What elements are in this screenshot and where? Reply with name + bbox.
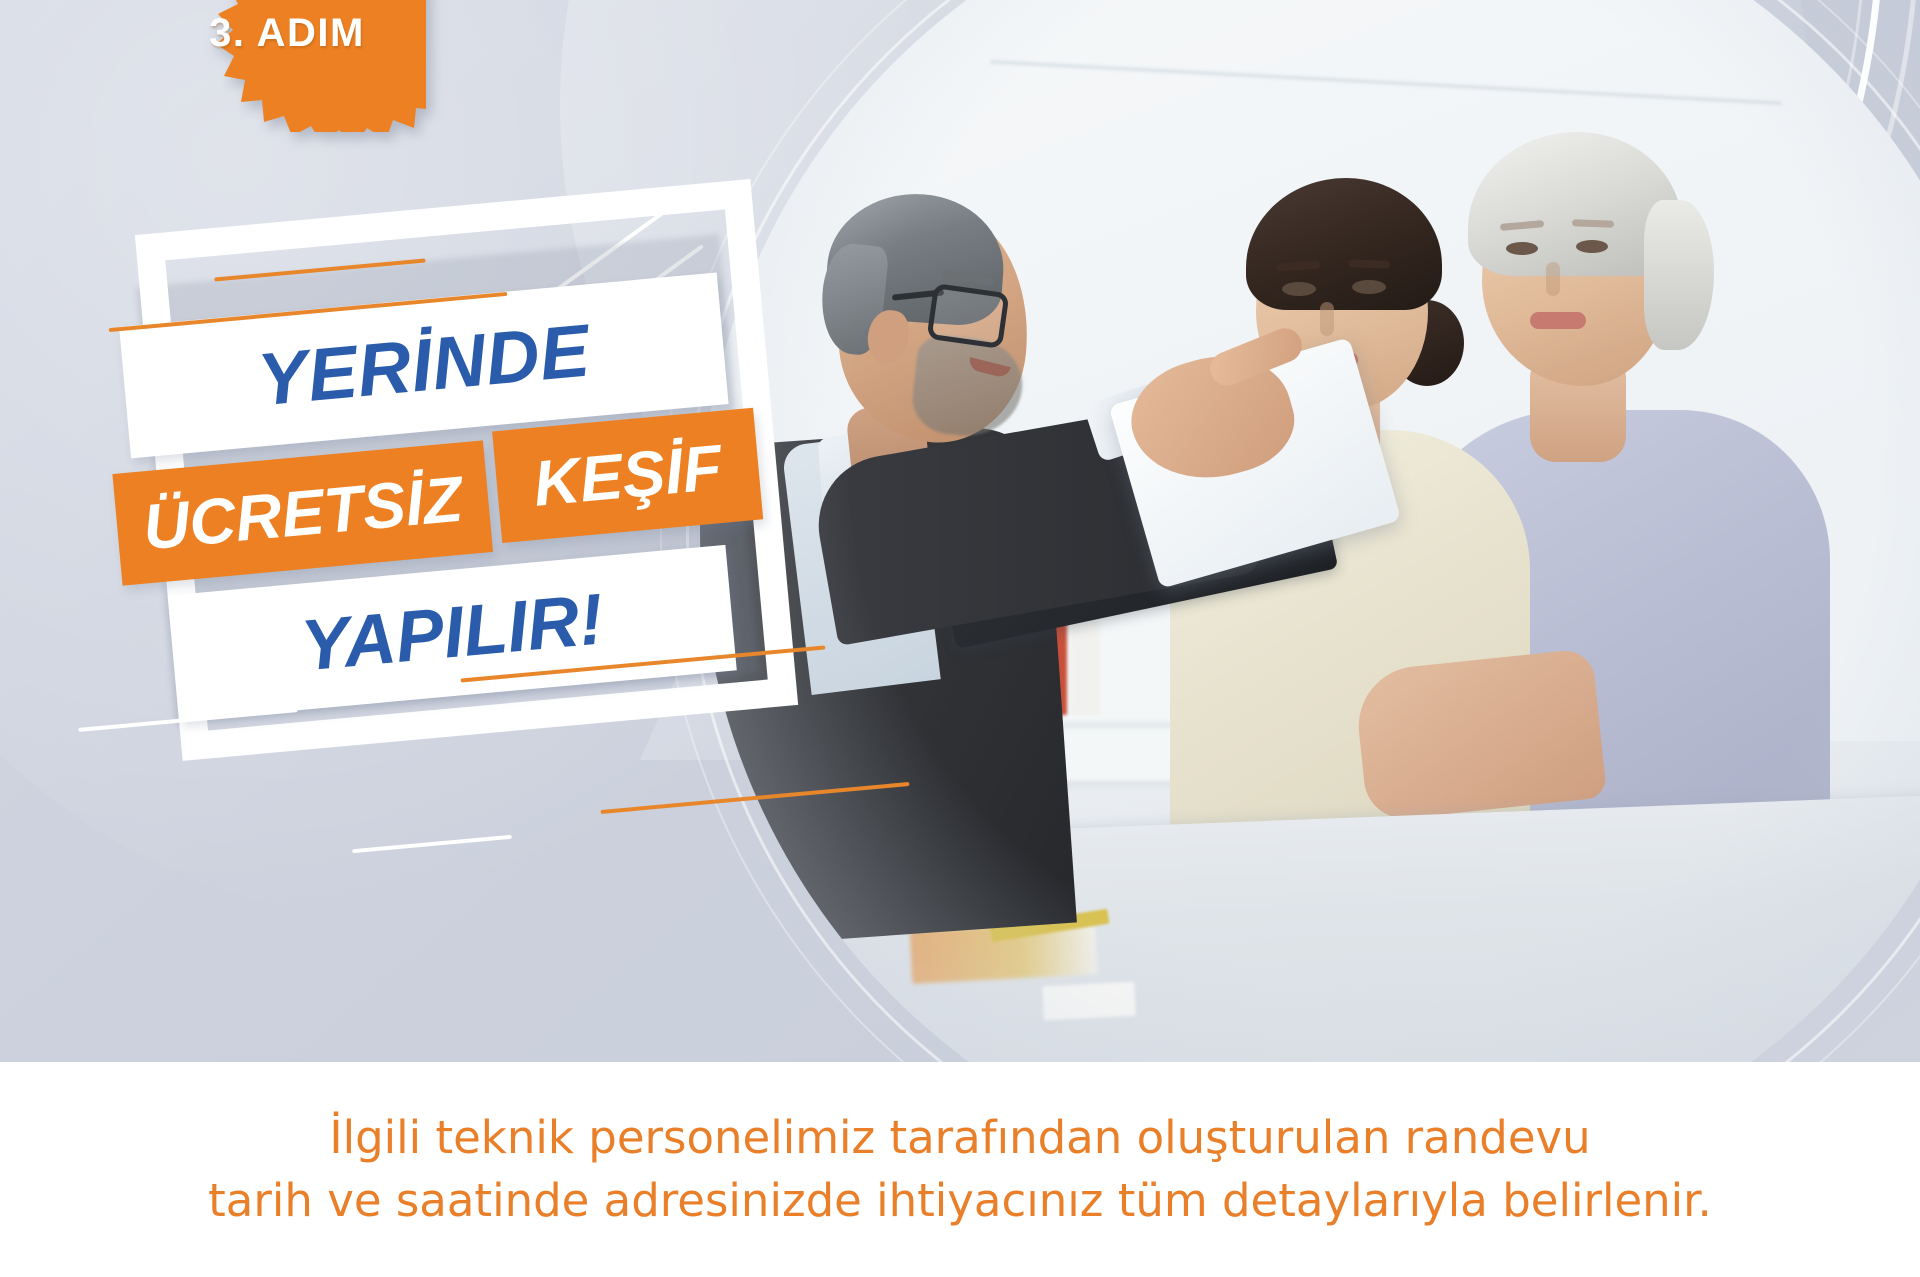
- senior-woman-eye-left: [1506, 242, 1538, 255]
- poster-canvas: YERİNDE ÜCRETSİZ KEŞİF YAPILIR! 3. ADIM …: [0, 0, 1920, 1277]
- woman-nose: [1320, 302, 1334, 336]
- hero-section: YERİNDE ÜCRETSİZ KEŞİF YAPILIR! 3. ADIM: [0, 0, 1920, 1062]
- woman-brow-right: [1348, 259, 1390, 268]
- headline-block: YERİNDE ÜCRETSİZ KEŞİF YAPILIR!: [71, 154, 839, 777]
- senior-woman-nose: [1546, 262, 1560, 296]
- headline-kesif: KEŞİF: [492, 408, 763, 543]
- senior-woman-brow-right: [1572, 219, 1614, 227]
- caption-section: İlgili teknik personelimiz tarafından ol…: [0, 1062, 1920, 1277]
- man-glasses-lens: [926, 283, 1009, 349]
- caption-line-2: tarih ve saatinde adresinizde ihtiyacını…: [208, 1173, 1712, 1230]
- senior-woman-eye-right: [1576, 240, 1608, 253]
- caption-line-1: İlgili teknik personelimiz tarafından ol…: [329, 1110, 1590, 1167]
- photo-content: [700, 0, 1920, 1062]
- accent-stroke-white-slim: [352, 835, 512, 853]
- table-paper: [1042, 982, 1136, 1021]
- step-badge[interactable]: 3. ADIM: [148, 0, 426, 132]
- woman-eye-right: [1352, 280, 1386, 294]
- senior-woman-arm: [1353, 648, 1607, 822]
- woman-eye-left: [1282, 282, 1316, 296]
- step-badge-label: 3. ADIM: [148, 0, 426, 132]
- meeting-photo: [700, 0, 1920, 1062]
- senior-woman-mouth: [1530, 312, 1586, 329]
